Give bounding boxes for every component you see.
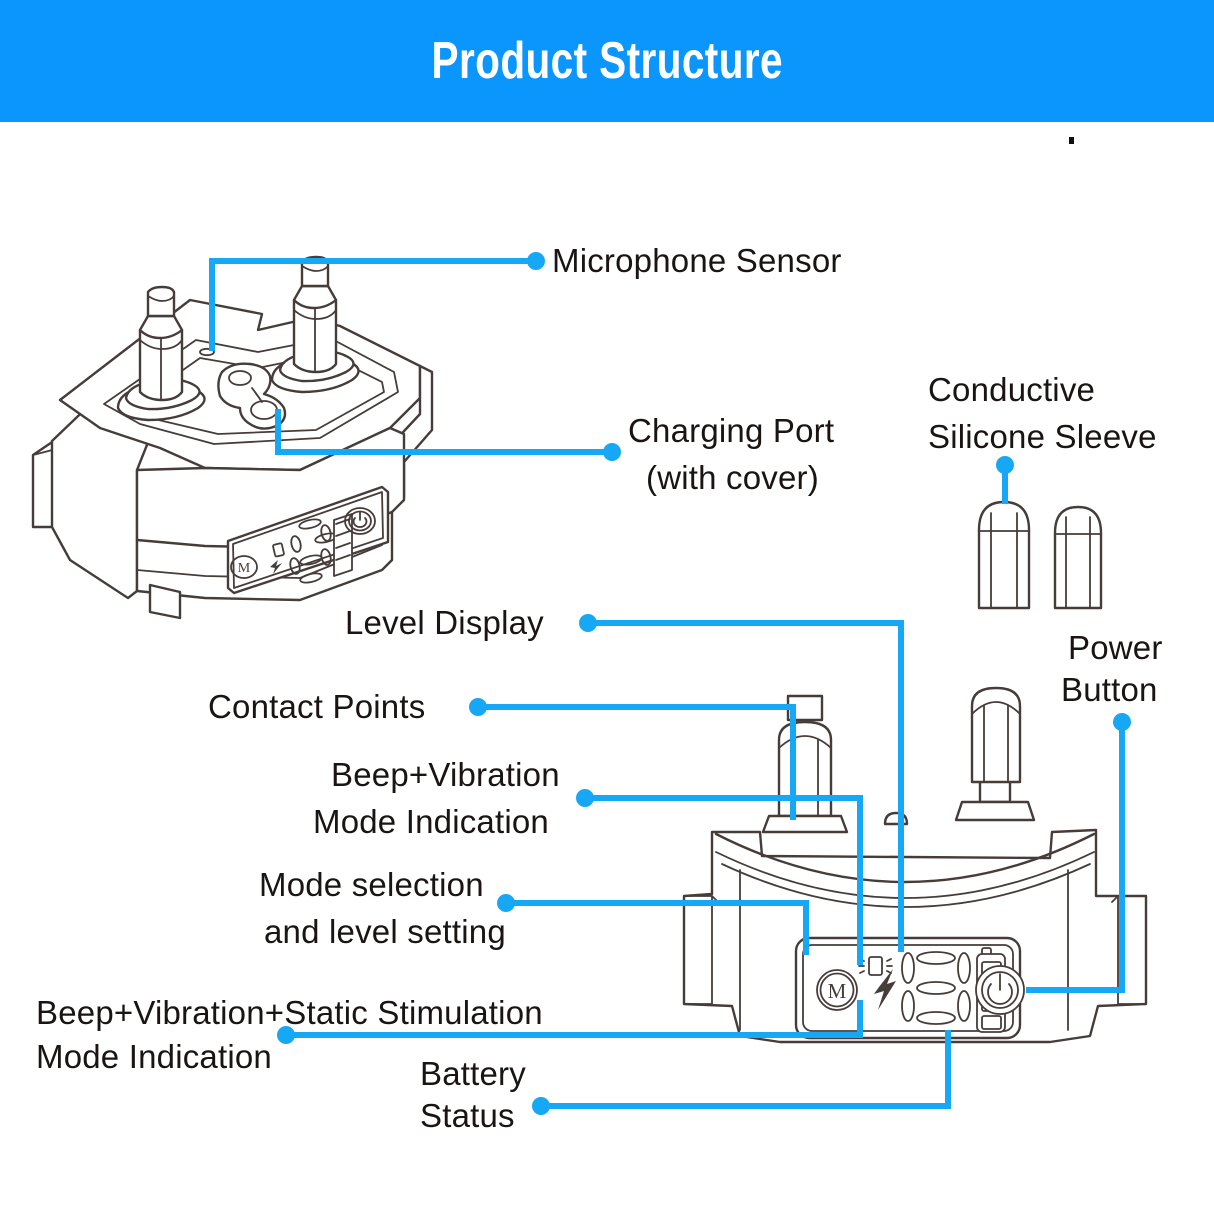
label-beep-vibration-static-line1: Beep+Vibration+Static Stimulation xyxy=(36,990,543,1036)
label-mode-selection-line2: and level setting xyxy=(264,909,506,955)
silicone-sleeve-pair xyxy=(979,502,1101,608)
contact-probe-left-front xyxy=(763,696,847,832)
label-beep-vibration-mode-line2: Mode Indication xyxy=(313,799,549,845)
leader-dot-power-button xyxy=(1113,713,1131,731)
silicone-sleeve-right xyxy=(1055,507,1101,608)
power-button-drawn[interactable] xyxy=(976,966,1024,1014)
label-conductive-silicone-sleeve-line2: Silicone Sleeve xyxy=(928,414,1157,460)
label-conductive-silicone-sleeve-line1: Conductive xyxy=(928,367,1095,413)
label-beep-vibration-mode-line1: Beep+Vibration xyxy=(331,752,560,798)
label-power-button-line1: Power xyxy=(1068,625,1163,671)
label-power-button-line2: Button xyxy=(1061,667,1158,713)
leader-dot-contact-points xyxy=(469,698,487,716)
product-structure-page: Product Structure .ol{fill:none;stroke:#… xyxy=(0,0,1214,1214)
label-charging-port-line2: (with cover) xyxy=(646,455,819,501)
label-beep-vibration-static-line2: Mode Indication xyxy=(36,1034,272,1080)
label-battery-status-line2: Status xyxy=(420,1093,515,1139)
svg-text:M: M xyxy=(238,561,251,576)
svg-text:M: M xyxy=(828,979,847,1003)
leader-dot-charging-port xyxy=(603,443,621,461)
leader-dot-level-display xyxy=(579,614,597,632)
device-foot xyxy=(150,585,180,618)
leader-dot-microphone-sensor xyxy=(527,252,545,270)
contact-probe-right-front xyxy=(956,688,1034,820)
label-level-display: Level Display xyxy=(345,600,544,646)
label-microphone-sensor: Microphone Sensor xyxy=(552,238,842,284)
label-contact-points: Contact Points xyxy=(208,684,425,730)
leader-dot-battery-status xyxy=(532,1097,550,1115)
label-mode-selection-line1: Mode selection xyxy=(259,862,484,908)
device-perspective-view: M xyxy=(33,257,432,618)
leader-dot-beep-vibration-mode xyxy=(576,789,594,807)
silicone-sleeve-left xyxy=(979,502,1029,608)
label-battery-status-line1: Battery xyxy=(420,1051,526,1097)
label-charging-port-line1: Charging Port xyxy=(628,408,834,454)
